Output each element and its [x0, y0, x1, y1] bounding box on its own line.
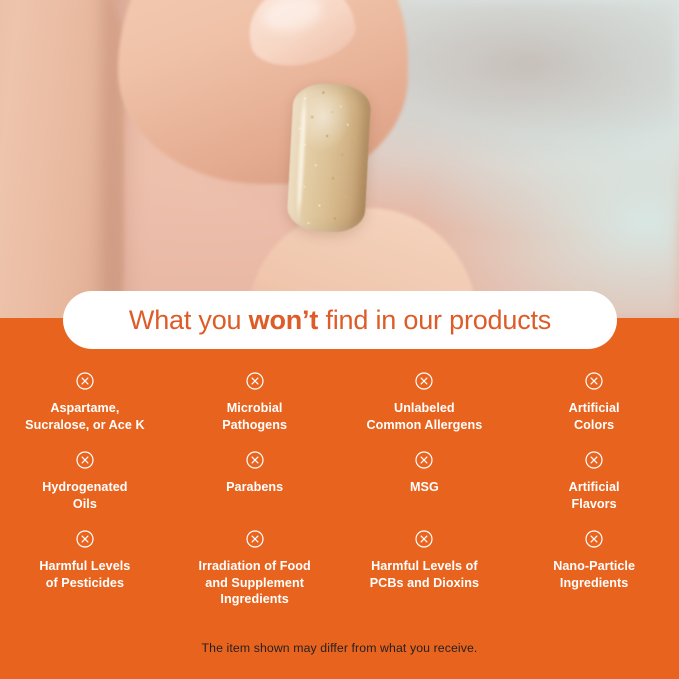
exclusion-item: MSG [340, 451, 510, 530]
circle-x-icon [246, 372, 264, 390]
circle-x-icon [76, 372, 94, 390]
product-infographic: What you won’t find in our products Aspa… [0, 0, 679, 679]
exclusion-item: Hydrogenated Oils [0, 451, 170, 530]
circle-x-icon [585, 530, 603, 548]
exclusion-label: MSG [410, 479, 439, 496]
exclusion-label: Irradiation of Food and Supplement Ingre… [199, 558, 311, 608]
circle-x-icon [415, 451, 433, 469]
circle-x-icon [246, 530, 264, 548]
exclusion-label: Parabens [226, 479, 283, 496]
exclusion-item: Harmful Levels of PCBs and Dioxins [340, 530, 510, 614]
headline-banner: What you won’t find in our products [63, 291, 617, 349]
headline-prefix: What you [129, 305, 249, 335]
exclusion-label: Harmful Levels of Pesticides [39, 558, 130, 591]
exclusions-grid: Aspartame, Sucralose, or Ace K Microbial… [0, 372, 679, 614]
exclusion-label: Microbial Pathogens [222, 400, 287, 433]
circle-x-icon [76, 530, 94, 548]
circle-x-icon [415, 372, 433, 390]
exclusion-label: Hydrogenated Oils [42, 479, 127, 512]
exclusion-item: Parabens [170, 451, 340, 530]
page-title: What you won’t find in our products [129, 305, 551, 336]
circle-x-icon [585, 372, 603, 390]
circle-x-icon [246, 451, 264, 469]
circle-x-icon [415, 530, 433, 548]
hero-photo [0, 0, 679, 320]
exclusion-item: Microbial Pathogens [170, 372, 340, 451]
circle-x-icon [76, 451, 94, 469]
supplement-tablet [286, 82, 372, 234]
circle-x-icon [585, 451, 603, 469]
exclusion-item: Unlabeled Common Allergens [340, 372, 510, 451]
exclusion-label: Nano-Particle Ingredients [553, 558, 635, 591]
disclaimer-text: The item shown may differ from what you … [0, 641, 679, 655]
exclusion-item: Aspartame, Sucralose, or Ace K [0, 372, 170, 451]
headline-suffix: find in our products [318, 305, 551, 335]
exclusion-label: Harmful Levels of PCBs and Dioxins [370, 558, 479, 591]
headline-emphasis: won’t [249, 305, 318, 335]
exclusion-item: Nano-Particle Ingredients [509, 530, 679, 614]
exclusion-label: Artificial Colors [569, 400, 620, 433]
left-finger [0, 0, 124, 320]
exclusion-item: Artificial Flavors [509, 451, 679, 530]
exclusion-item: Irradiation of Food and Supplement Ingre… [170, 530, 340, 614]
exclusion-label: Unlabeled Common Allergens [366, 400, 482, 433]
exclusion-label: Artificial Flavors [569, 479, 620, 512]
exclusion-label: Aspartame, Sucralose, or Ace K [25, 400, 144, 433]
exclusion-item: Harmful Levels of Pesticides [0, 530, 170, 614]
exclusion-item: Artificial Colors [509, 372, 679, 451]
